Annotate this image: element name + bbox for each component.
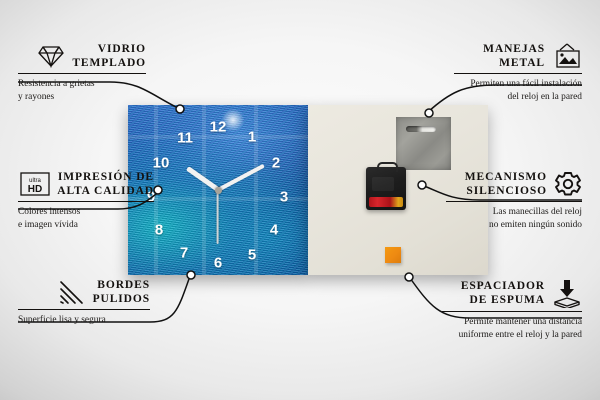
mechanism-hanger-loop [377, 162, 398, 172]
clock-numeral-5: 5 [248, 248, 256, 263]
clock-numeral-8: 8 [155, 223, 163, 238]
gear-icon [554, 170, 582, 198]
clock-mechanism-housing [366, 167, 406, 210]
callout-description: Colores intensos e imagen vívida [18, 206, 154, 230]
clock-numeral-7: 7 [180, 246, 188, 261]
face-grid-line [202, 105, 206, 275]
callout-title: MECANISMO SILENCIOSO [446, 170, 547, 198]
callout-title: MANEJAS METAL [454, 42, 545, 70]
clock-numeral-6: 6 [214, 256, 222, 271]
callout-rule [18, 201, 154, 202]
clock-numeral-4: 4 [270, 223, 278, 238]
callout-rule [18, 73, 146, 74]
face-grid-line [128, 135, 308, 139]
callout-espaciador-de-espuma[interactable]: ESPACIADOR DE ESPUMA Permite mantener un… [442, 278, 582, 341]
hanger-keyhole-slot [406, 126, 436, 132]
metal-hanger-plate [396, 117, 451, 170]
callout-rule [454, 73, 582, 74]
clock-numeral-11: 11 [177, 131, 193, 146]
clock-numeral-3: 3 [280, 190, 288, 205]
callout-impresion-alta-calidad[interactable]: ultra HD IMPRESIÓN DE ALTA CALIDAD Color… [18, 170, 154, 231]
callout-description: Permiten una fácil instalación del reloj… [454, 78, 582, 102]
callout-bordes-pulidos[interactable]: BORDES PULIDOS Superficie lisa y segura [18, 278, 150, 327]
callout-title: IMPRESIÓN DE ALTA CALIDAD [57, 170, 154, 198]
callout-description: Las manecillas del reloj no emiten ningú… [446, 206, 582, 230]
foam-spacer-icon [552, 278, 582, 308]
diamond-icon [37, 43, 65, 69]
polished-edges-icon [58, 279, 86, 305]
callout-title: ESPACIADOR DE ESPUMA [442, 279, 545, 307]
callout-manejas-metal[interactable]: MANEJAS METAL Permiten una fácil instala… [454, 42, 582, 103]
picture-hanger-icon [552, 42, 582, 70]
clock-numeral-10: 10 [153, 156, 170, 171]
orange-foam-spacer [385, 247, 401, 263]
clock-numeral-12: 12 [210, 120, 227, 135]
clock-second-hand [217, 190, 219, 244]
callout-rule [18, 309, 150, 310]
callout-rule [442, 311, 582, 312]
callout-description: Permite mantener una distancia uniforme … [442, 316, 582, 340]
infographic-canvas: 12 1 2 3 4 5 6 7 8 9 10 11 [0, 0, 600, 400]
clock-numeral-2: 2 [272, 156, 280, 171]
callout-mecanismo-silencioso[interactable]: MECANISMO SILENCIOSO Las manecillas del … [446, 170, 582, 231]
ultra-hd-icon: ultra HD [20, 171, 50, 197]
callout-rule [446, 201, 582, 202]
clock-front-panel: 12 1 2 3 4 5 6 7 8 9 10 11 [128, 105, 308, 275]
callout-description: Resistencia a grietas y rayones [18, 78, 146, 102]
clock-numeral-1: 1 [248, 130, 256, 145]
svg-text:HD: HD [28, 184, 42, 195]
mechanism-face-detail [372, 177, 394, 191]
battery [369, 197, 403, 207]
clock-hand-cap [215, 187, 222, 194]
callout-title: BORDES PULIDOS [93, 278, 150, 306]
callout-description: Superficie lisa y segura [18, 314, 150, 326]
callout-vidrio-templado[interactable]: VIDRIO TEMPLADO Resistencia a grietas y … [18, 42, 146, 103]
callout-title: VIDRIO TEMPLADO [72, 42, 146, 70]
